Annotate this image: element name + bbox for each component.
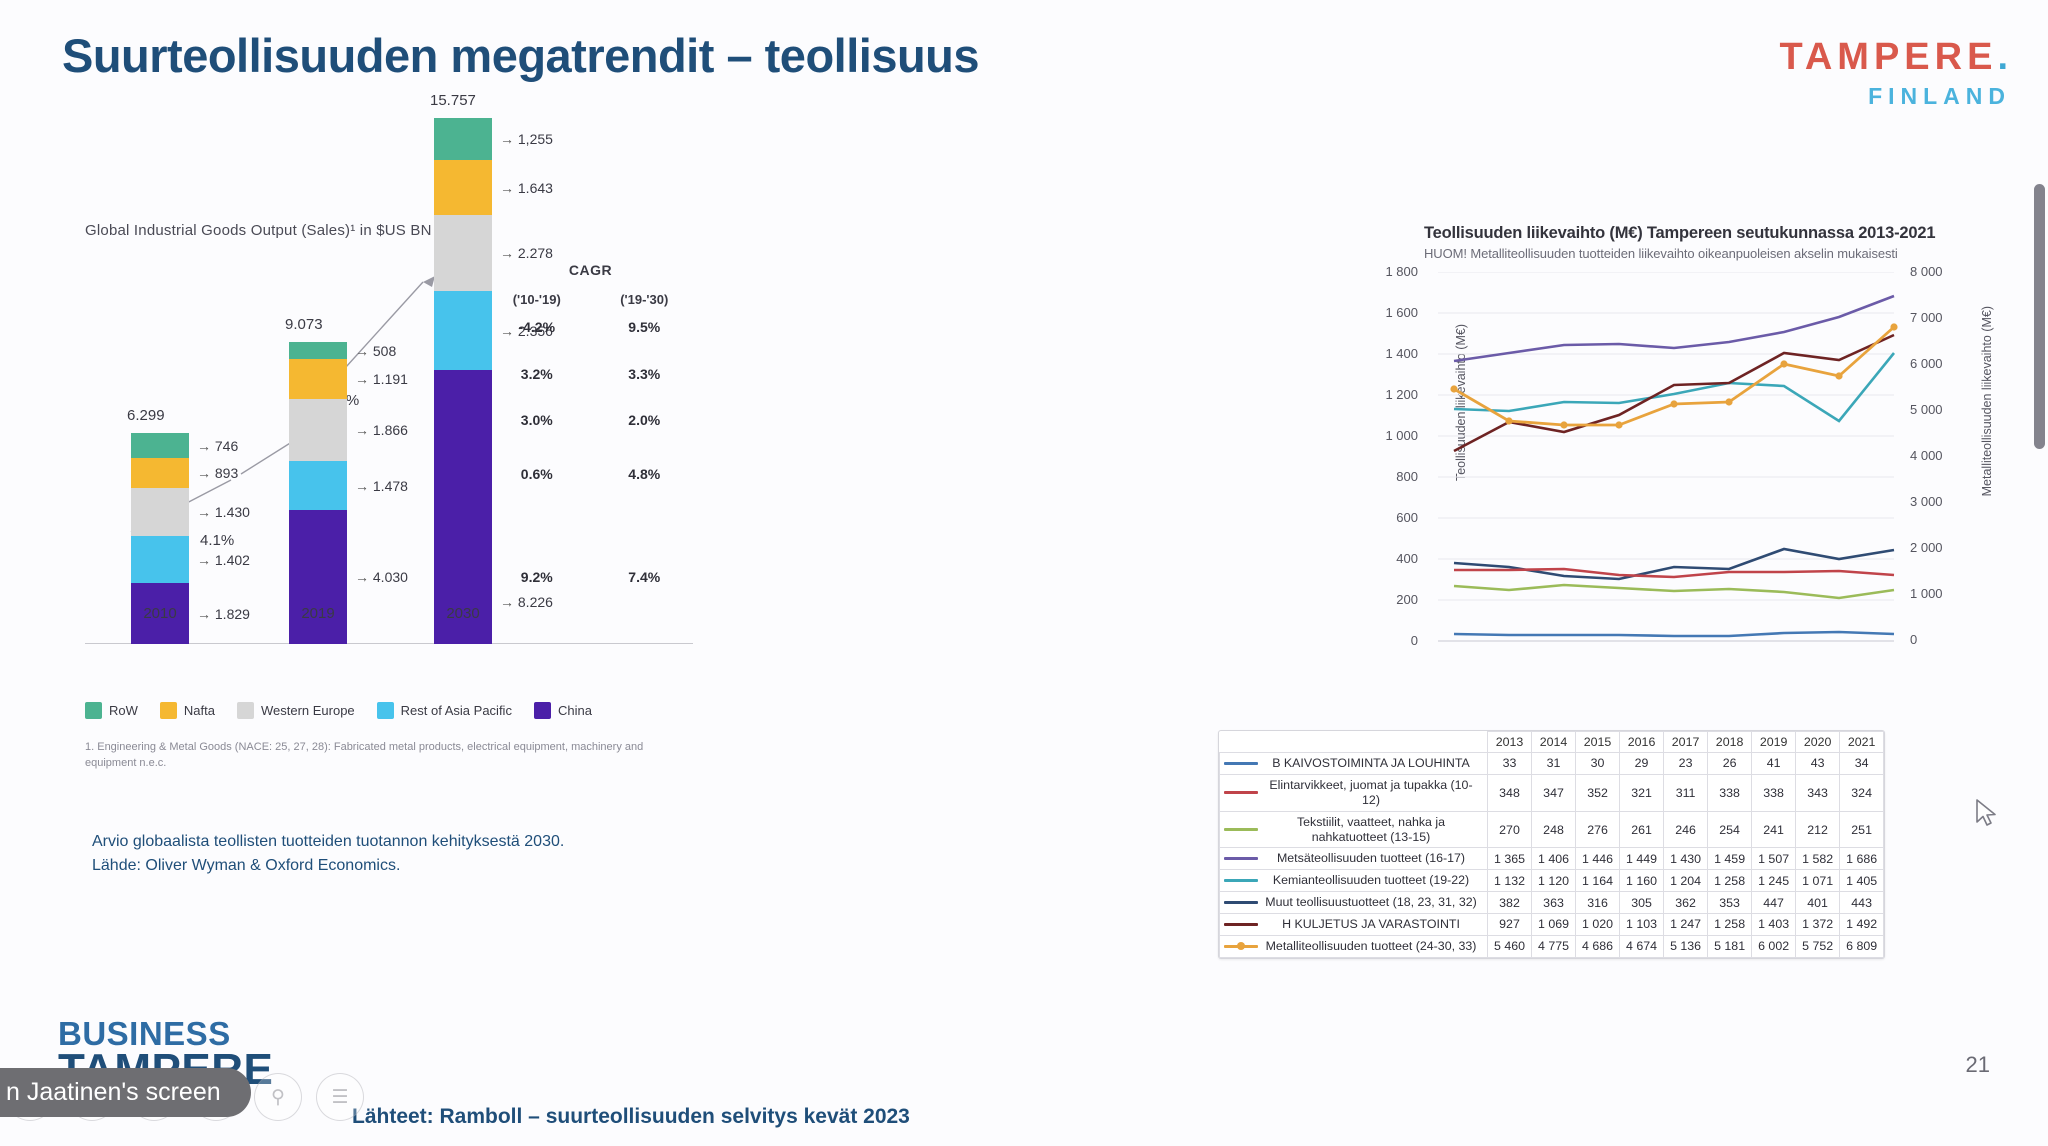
cell-muut-2019: 447 — [1752, 892, 1796, 914]
cell-metalliteollisuus-2018: 5 181 — [1708, 935, 1752, 957]
cell-kemianteollisuus-2018: 1 258 — [1708, 870, 1752, 892]
cell-metalliteollisuus-2014: 4 775 — [1532, 935, 1576, 957]
legend-label-row: RoW — [109, 703, 138, 718]
col-header-2014: 2014 — [1532, 732, 1576, 753]
cagr-header-row: ('10-'19) ('19-'30) — [483, 292, 698, 307]
series-label-kuljetus: H KULJETUS JA VARASTOINTI — [1263, 917, 1479, 932]
table-row: Metalliteollisuuden tuotteet (24-30, 33)… — [1220, 935, 1884, 957]
cell-tekstiilit-2021: 251 — [1840, 811, 1884, 848]
table-row: Tekstiilit, vaatteet, nahka ja nahkatuot… — [1220, 811, 1884, 848]
series-key-line-metalliteollisuus-icon — [1224, 945, 1258, 948]
bar-segment-roap-2010: 1.402 — [131, 536, 189, 583]
cell-elintarvikkeet-2020: 343 — [1796, 774, 1840, 811]
x-tick-2030: 2030 — [434, 605, 492, 622]
left-chart-footnote: 1. Engineering & Metal Goods (NACE: 25, … — [85, 740, 645, 772]
cell-kaivostoiminta-2017: 23 — [1664, 753, 1708, 775]
cell-metsateollisuus-2014: 1 406 — [1532, 848, 1576, 870]
y-axis-label-right: Metalliteollisuuden liikevaihto (M€) — [1980, 306, 1994, 496]
bar-label-row-2010: 746 — [197, 438, 238, 454]
cell-kuljetus-2018: 1 258 — [1708, 914, 1752, 936]
cell-metalliteollisuus-2020: 5 752 — [1796, 935, 1840, 957]
cell-kemianteollisuus-2019: 1 245 — [1752, 870, 1796, 892]
right-chart-title: Teollisuuden liikevaihto (M€) Tampereen … — [1424, 224, 2024, 243]
tampere-finland-logo: TAMPERE. FINLAND — [1779, 36, 2013, 110]
y-tick-right-5000: 5 000 — [1910, 402, 1943, 417]
col-header-2018: 2018 — [1708, 732, 1752, 753]
series-key-line-kuljetus-icon — [1224, 923, 1258, 926]
table-row: Elintarvikkeet, juomat ja tupakka (10-12… — [1220, 774, 1884, 811]
y-tick-left-200: 200 — [1352, 592, 1418, 607]
cell-muut-2021: 443 — [1840, 892, 1884, 914]
cagr-row-nafta-c1: 3.2% — [483, 366, 591, 382]
y-tick-left-1800: 1 800 — [1352, 264, 1418, 279]
left-chart-legend: RoW Nafta Western Europe Rest of Asia Pa… — [85, 702, 592, 719]
series-name-cell-kaivostoiminta: B KAIVOSTOIMINTA JA LOUHINTA — [1220, 753, 1488, 775]
cell-kemianteollisuus-2017: 1 204 — [1664, 870, 1708, 892]
left-chart-title: Global Industrial Goods Output (Sales)¹ … — [85, 222, 705, 239]
y-tick-left-1200: 1 200 — [1352, 387, 1418, 402]
legend-item-row: RoW — [85, 702, 138, 719]
bar-segment-weu-2010: 1.430 — [131, 488, 189, 536]
bar-segment-roap-2019: 1.478 — [289, 461, 347, 510]
bar-total-2019: 9.073 — [285, 316, 323, 333]
cell-tekstiilit-2018: 254 — [1708, 811, 1752, 848]
cagr-row-roap: 0.6% 4.8% — [483, 466, 698, 482]
cagr-row-china: 9.2% 7.4% — [483, 569, 698, 585]
cell-kaivostoiminta-2013: 33 — [1488, 753, 1532, 775]
cagr-table: CAGR ('10-'19) ('19-'30) -4.2% 9.5% 3.2%… — [483, 262, 698, 307]
bar-label-china-2010: 1.829 — [197, 606, 250, 622]
x-tick-2019: 2019 — [289, 605, 347, 622]
right-chart-plot: 1 800 1 600 1 400 1 200 1 000 800 600 40… — [1424, 272, 2024, 662]
bar-segment-nafta-2010: 893 — [131, 458, 189, 488]
cell-elintarvikkeet-2013: 348 — [1488, 774, 1532, 811]
x-tick-2010: 2010 — [131, 605, 189, 622]
table-row: Metsäteollisuuden tuotteet (16-17) 1 365… — [1220, 848, 1884, 870]
legend-label-china: China — [558, 703, 592, 718]
bar-label-roap-2019: 1.478 — [355, 478, 408, 494]
cell-kemianteollisuus-2021: 1 405 — [1840, 870, 1884, 892]
cell-kaivostoiminta-2021: 34 — [1840, 753, 1884, 775]
y-tick-left-1000: 1 000 — [1352, 428, 1418, 443]
table-row: H KULJETUS JA VARASTOINTI 927 1 069 1 02… — [1220, 914, 1884, 936]
cell-metsateollisuus-2018: 1 459 — [1708, 848, 1752, 870]
cell-kuljetus-2017: 1 247 — [1664, 914, 1708, 936]
series-label-tekstiilit: Tekstiilit, vaatteet, nahka ja nahkatuot… — [1263, 815, 1479, 845]
cagr-row-weu-c2: 2.0% — [591, 412, 699, 428]
bar-segment-china-2019: 4.030 — [289, 510, 347, 644]
bar-label-weu-2019: 1.866 — [355, 422, 408, 438]
cell-kemianteollisuus-2020: 1 071 — [1796, 870, 1840, 892]
cell-elintarvikkeet-2016: 321 — [1620, 774, 1664, 811]
y-tick-right-4000: 4 000 — [1910, 448, 1943, 463]
left-chart-plot: 4.1% 5.1% 6.299 746 893 1.430 1.402 1.82 — [85, 262, 705, 692]
bar-segment-nafta-2019: 1.191 — [289, 359, 347, 399]
cell-metsateollisuus-2015: 1 446 — [1576, 848, 1620, 870]
series-label-metalliteollisuus: Metalliteollisuuden tuotteet (24-30, 33) — [1263, 939, 1479, 954]
y-tick-left-1400: 1 400 — [1352, 346, 1418, 361]
series-name-cell-metsateollisuus: Metsäteollisuuden tuotteet (16-17) — [1220, 848, 1488, 870]
col-header-2016: 2016 — [1620, 732, 1664, 753]
legend-item-rest-of-asia-pacific: Rest of Asia Pacific — [377, 702, 512, 719]
cell-kaivostoiminta-2015: 30 — [1576, 753, 1620, 775]
series-name-cell-kemianteollisuus: Kemianteollisuuden tuotteet (19-22) — [1220, 870, 1488, 892]
cell-kemianteollisuus-2015: 1 164 — [1576, 870, 1620, 892]
series-key-line-muut-teollisuustuotteet-icon — [1224, 901, 1258, 904]
series-name-cell-elintarvikkeet: Elintarvikkeet, juomat ja tupakka (10-12… — [1220, 774, 1488, 811]
notes-icon[interactable]: ☰ — [316, 1073, 364, 1121]
series-name-cell-muut-teollisuustuotteet: Muut teollisuustuotteet (18, 23, 31, 32) — [1220, 892, 1488, 914]
tampere-wordmark: TAMPERE. — [1779, 36, 2013, 79]
cell-metalliteollisuus-2019: 6 002 — [1752, 935, 1796, 957]
right-chart-svg — [1424, 272, 1904, 644]
series-label-metsateollisuus: Metsäteollisuuden tuotteet (16-17) — [1263, 851, 1479, 866]
bar-label-row-2019: 508 — [355, 343, 396, 359]
table-corner-cell — [1220, 732, 1488, 753]
cell-kuljetus-2014: 1 069 — [1532, 914, 1576, 936]
cell-kemianteollisuus-2014: 1 120 — [1532, 870, 1576, 892]
cell-tekstiilit-2020: 212 — [1796, 811, 1840, 848]
cell-metsateollisuus-2016: 1 449 — [1620, 848, 1664, 870]
col-header-2020: 2020 — [1796, 732, 1840, 753]
cell-muut-2015: 316 — [1576, 892, 1620, 914]
series-name-cell-kuljetus: H KULJETUS JA VARASTOINTI — [1220, 914, 1488, 936]
cell-tekstiilit-2015: 276 — [1576, 811, 1620, 848]
scrollbar-thumb[interactable] — [2034, 184, 2045, 449]
cagr-col-1: ('19-'30) — [591, 292, 699, 307]
legend-item-western-europe: Western Europe — [237, 702, 355, 719]
right-chart-data-table: 2013 2014 2015 2016 2017 2018 2019 2020 … — [1218, 730, 1885, 959]
cagr-row-weu: 3.0% 2.0% — [483, 412, 698, 428]
cell-kaivostoiminta-2016: 29 — [1620, 753, 1664, 775]
cell-metsateollisuus-2013: 1 365 — [1488, 848, 1532, 870]
series-key-line-kaivostoiminta-icon — [1224, 762, 1258, 765]
y-tick-right-8000: 8 000 — [1910, 264, 1943, 279]
bar-group-2019: 9.073 508 1.191 1.866 1.478 4.030 2019 — [289, 342, 347, 644]
bar-group-2010: 6.299 746 893 1.430 1.402 1.829 2010 — [131, 433, 189, 644]
cell-kaivostoiminta-2014: 31 — [1532, 753, 1576, 775]
cell-metalliteollisuus-2021: 6 809 — [1840, 935, 1884, 957]
cell-muut-2016: 305 — [1620, 892, 1664, 914]
y-tick-left-0: 0 — [1352, 633, 1418, 648]
bar-segment-nafta-2030: 1.643 — [434, 160, 492, 215]
cell-muut-2014: 363 — [1532, 892, 1576, 914]
cell-kuljetus-2015: 1 020 — [1576, 914, 1620, 936]
series-key-line-kemianteollisuus-icon — [1224, 879, 1258, 882]
bar-label-row-2030: 1,255 — [500, 131, 553, 147]
cagr-row-row-c1: -4.2% — [483, 319, 591, 335]
bar-segment-row-2030: 1,255 — [434, 118, 492, 160]
table-header-row: 2013 2014 2015 2016 2017 2018 2019 2020 … — [1220, 732, 1884, 753]
cell-metsateollisuus-2017: 1 430 — [1664, 848, 1708, 870]
cell-kuljetus-2019: 1 403 — [1752, 914, 1796, 936]
cell-metsateollisuus-2020: 1 582 — [1796, 848, 1840, 870]
y-tick-left-400: 400 — [1352, 551, 1418, 566]
cell-elintarvikkeet-2018: 338 — [1708, 774, 1752, 811]
bar-label-weu-2030: 2.278 — [500, 245, 553, 261]
bar-label-china-2019: 4.030 — [355, 569, 408, 585]
cell-metalliteollisuus-2016: 4 674 — [1620, 935, 1664, 957]
cagr-row-row-c2: 9.5% — [591, 319, 699, 335]
cell-tekstiilit-2017: 246 — [1664, 811, 1708, 848]
cagr-title: CAGR — [483, 262, 698, 278]
cagr-row-weu-c1: 3.0% — [483, 412, 591, 428]
right-line-chart: Teollisuuden liikevaihto (M€) Tampereen … — [1424, 224, 2024, 754]
cell-tekstiilit-2019: 241 — [1752, 811, 1796, 848]
screen-share-label: n Jaatinen's screen — [0, 1068, 251, 1117]
bar-segment-row-2019: 508 — [289, 342, 347, 359]
cell-metsateollisuus-2021: 1 686 — [1840, 848, 1884, 870]
left-chart-source-note: Arvio globaalista teollisten tuotteiden … — [92, 830, 652, 878]
magnifier-icon[interactable]: ⚲ — [254, 1073, 302, 1121]
col-header-2019: 2019 — [1752, 732, 1796, 753]
bar-total-2010: 6.299 — [127, 407, 165, 424]
cell-kuljetus-2020: 1 372 — [1796, 914, 1840, 936]
bar-total-2030: 15.757 — [430, 92, 476, 109]
y-tick-left-1600: 1 600 — [1352, 305, 1418, 320]
legend-swatch-nafta-icon — [160, 702, 177, 719]
tampere-dot-icon: . — [1997, 36, 2013, 78]
cagr-row-china-c1: 9.2% — [483, 569, 591, 585]
legend-swatch-china-icon — [534, 702, 551, 719]
col-header-2017: 2017 — [1664, 732, 1708, 753]
bar-label-nafta-2019: 1.191 — [355, 371, 408, 387]
bar-segment-weu-2019: 1.866 — [289, 399, 347, 461]
cell-metalliteollisuus-2015: 4 686 — [1576, 935, 1620, 957]
bar-label-weu-2010: 1.430 — [197, 504, 250, 520]
cell-elintarvikkeet-2017: 311 — [1664, 774, 1708, 811]
cagr-row-row: -4.2% 9.5% — [483, 319, 698, 335]
series-key-line-tekstiilit-icon — [1224, 828, 1258, 831]
cell-metalliteollisuus-2017: 5 136 — [1664, 935, 1708, 957]
page-number: 21 — [1966, 1052, 1990, 1078]
table-row: B KAIVOSTOIMINTA JA LOUHINTA 33 31 30 29… — [1220, 753, 1884, 775]
slide-canvas: Suurteollisuuden megatrendit – teollisuu… — [0, 0, 2048, 1146]
y-tick-right-7000: 7 000 — [1910, 310, 1943, 325]
y-tick-right-6000: 6 000 — [1910, 356, 1943, 371]
table-row: Kemianteollisuuden tuotteet (19-22) 1 13… — [1220, 870, 1884, 892]
legend-label-rest-of-asia-pacific: Rest of Asia Pacific — [401, 703, 512, 718]
left-bar-chart: Global Industrial Goods Output (Sales)¹ … — [85, 222, 705, 782]
bar-label-nafta-2010: 893 — [197, 465, 238, 481]
cagr-col-0: ('10-'19) — [483, 292, 591, 307]
legend-swatch-row-icon — [85, 702, 102, 719]
cell-kaivostoiminta-2019: 41 — [1752, 753, 1796, 775]
bar-label-china-2030: 8.226 — [500, 594, 553, 610]
cell-tekstiilit-2014: 248 — [1532, 811, 1576, 848]
cell-metsateollisuus-2019: 1 507 — [1752, 848, 1796, 870]
cell-elintarvikkeet-2021: 324 — [1840, 774, 1884, 811]
legend-label-nafta: Nafta — [184, 703, 215, 718]
legend-item-nafta: Nafta — [160, 702, 215, 719]
cell-elintarvikkeet-2015: 352 — [1576, 774, 1620, 811]
cell-metalliteollisuus-2013: 5 460 — [1488, 935, 1532, 957]
legend-label-western-europe: Western Europe — [261, 703, 355, 718]
y-tick-left-600: 600 — [1352, 510, 1418, 525]
col-header-2021: 2021 — [1840, 732, 1884, 753]
cagr-row-roap-c2: 4.8% — [591, 466, 699, 482]
series-key-line-elintarvikkeet-icon — [1224, 791, 1258, 794]
bar-segment-row-2010: 746 — [131, 433, 189, 458]
cell-kaivostoiminta-2018: 26 — [1708, 753, 1752, 775]
cagr-row-roap-c1: 0.6% — [483, 466, 591, 482]
y-tick-right-3000: 3 000 — [1910, 494, 1943, 509]
right-chart-subtitle: HUOM! Metalliteollisuuden tuotteiden lii… — [1424, 246, 2024, 261]
cell-kaivostoiminta-2020: 43 — [1796, 753, 1840, 775]
col-header-2013: 2013 — [1488, 732, 1532, 753]
series-name-cell-metalliteollisuus: Metalliteollisuuden tuotteet (24-30, 33) — [1220, 935, 1488, 957]
vertical-scrollbar[interactable] — [2032, 150, 2048, 850]
series-values-table: 2013 2014 2015 2016 2017 2018 2019 2020 … — [1219, 731, 1884, 958]
cell-muut-2018: 353 — [1708, 892, 1752, 914]
y-tick-right-1000: 1 000 — [1910, 586, 1943, 601]
cagr-row-nafta: 3.2% 3.3% — [483, 366, 698, 382]
cell-elintarvikkeet-2019: 338 — [1752, 774, 1796, 811]
cell-kuljetus-2021: 1 492 — [1840, 914, 1884, 936]
bar-label-nafta-2030: 1.643 — [500, 180, 553, 196]
cell-tekstiilit-2013: 270 — [1488, 811, 1532, 848]
series-label-muut-teollisuustuotteet: Muut teollisuustuotteet (18, 23, 31, 32) — [1263, 895, 1479, 910]
source-footer-text: Lähteet: Ramboll – suurteollisuuden selv… — [352, 1105, 910, 1129]
table-row: Muut teollisuustuotteet (18, 23, 31, 32)… — [1220, 892, 1884, 914]
series-label-kemianteollisuus: Kemianteollisuuden tuotteet (19-22) — [1263, 873, 1479, 888]
y-tick-right-2000: 2 000 — [1910, 540, 1943, 555]
cagr-row-china-c2: 7.4% — [591, 569, 699, 585]
legend-swatch-western-europe-icon — [237, 702, 254, 719]
cell-tekstiilit-2016: 261 — [1620, 811, 1664, 848]
cell-kuljetus-2013: 927 — [1488, 914, 1532, 936]
col-header-2015: 2015 — [1576, 732, 1620, 753]
legend-swatch-rest-of-asia-pacific-icon — [377, 702, 394, 719]
tampere-wordmark-text: TAMPERE — [1779, 36, 1997, 78]
y-tick-left-800: 800 — [1352, 469, 1418, 484]
bar-label-roap-2010: 1.402 — [197, 552, 250, 568]
series-label-elintarvikkeet: Elintarvikkeet, juomat ja tupakka (10-12… — [1263, 778, 1479, 808]
series-label-kaivostoiminta: B KAIVOSTOIMINTA JA LOUHINTA — [1263, 756, 1479, 771]
cell-elintarvikkeet-2014: 347 — [1532, 774, 1576, 811]
page-title: Suurteollisuuden megatrendit – teollisuu… — [62, 28, 979, 83]
series-name-cell-tekstiilit: Tekstiilit, vaatteet, nahka ja nahkatuot… — [1220, 811, 1488, 848]
cell-kemianteollisuus-2013: 1 132 — [1488, 870, 1532, 892]
cell-muut-2013: 382 — [1488, 892, 1532, 914]
mouse-cursor-icon — [1975, 798, 2001, 832]
cell-kemianteollisuus-2016: 1 160 — [1620, 870, 1664, 892]
cagr-row-nafta-c2: 3.3% — [591, 366, 699, 382]
cell-muut-2017: 362 — [1664, 892, 1708, 914]
cell-muut-2020: 401 — [1796, 892, 1840, 914]
y-tick-right-0: 0 — [1910, 632, 1917, 647]
cell-kuljetus-2016: 1 103 — [1620, 914, 1664, 936]
finland-wordmark: FINLAND — [1779, 83, 2011, 110]
growth-label-0: 4.1% — [200, 532, 234, 549]
series-key-line-metsateollisuus-icon — [1224, 857, 1258, 860]
legend-item-china: China — [534, 702, 592, 719]
